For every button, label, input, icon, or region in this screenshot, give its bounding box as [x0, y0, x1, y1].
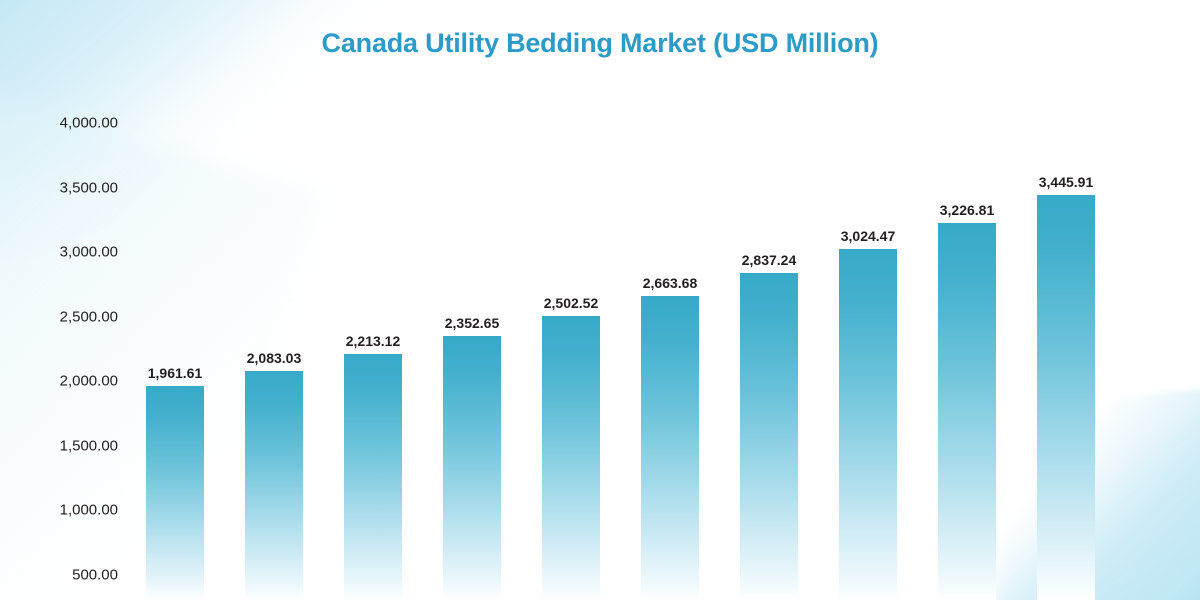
chart-container: Canada Utility Bedding Market (USD Milli… [0, 0, 1200, 600]
bar-value-label: 2,502.52 [544, 295, 599, 311]
bar-value-label: 3,226.81 [940, 202, 995, 218]
bar[interactable] [245, 371, 303, 600]
bar-group[interactable]: 3,226.81 [938, 223, 996, 600]
bar[interactable] [938, 223, 996, 600]
bar-group[interactable]: 1,961.61 [146, 386, 204, 600]
bar[interactable] [1037, 195, 1095, 600]
bar-value-label: 1,961.61 [148, 365, 203, 381]
bar-value-label: 2,352.65 [445, 315, 500, 331]
bar-group[interactable]: 2,213.12 [344, 354, 402, 600]
bar[interactable] [146, 386, 204, 600]
bar-value-label: 3,445.91 [1039, 174, 1094, 190]
bar-value-label: 2,213.12 [346, 333, 401, 349]
bar[interactable] [542, 316, 600, 600]
bar[interactable] [641, 296, 699, 600]
bar[interactable] [344, 354, 402, 600]
bars-layer: 1,961.612,083.032,213.122,352.652,502.52… [0, 0, 1200, 600]
bar-value-label: 2,663.68 [643, 275, 698, 291]
bar-group[interactable]: 3,445.91 [1037, 195, 1095, 600]
bar[interactable] [740, 273, 798, 600]
bar-group[interactable]: 2,502.52 [542, 316, 600, 600]
bar-group[interactable]: 2,663.68 [641, 296, 699, 600]
bar-value-label: 2,837.24 [742, 252, 797, 268]
bar-group[interactable]: 2,837.24 [740, 273, 798, 600]
bar-value-label: 3,024.47 [841, 228, 896, 244]
bar-value-label: 2,083.03 [247, 350, 302, 366]
plot-area: 4,000.003,500.003,000.002,500.002,000.00… [0, 0, 1200, 600]
bar[interactable] [443, 336, 501, 600]
bar[interactable] [839, 249, 897, 600]
bar-group[interactable]: 2,083.03 [245, 371, 303, 600]
bar-group[interactable]: 3,024.47 [839, 249, 897, 600]
bar-group[interactable]: 2,352.65 [443, 336, 501, 600]
